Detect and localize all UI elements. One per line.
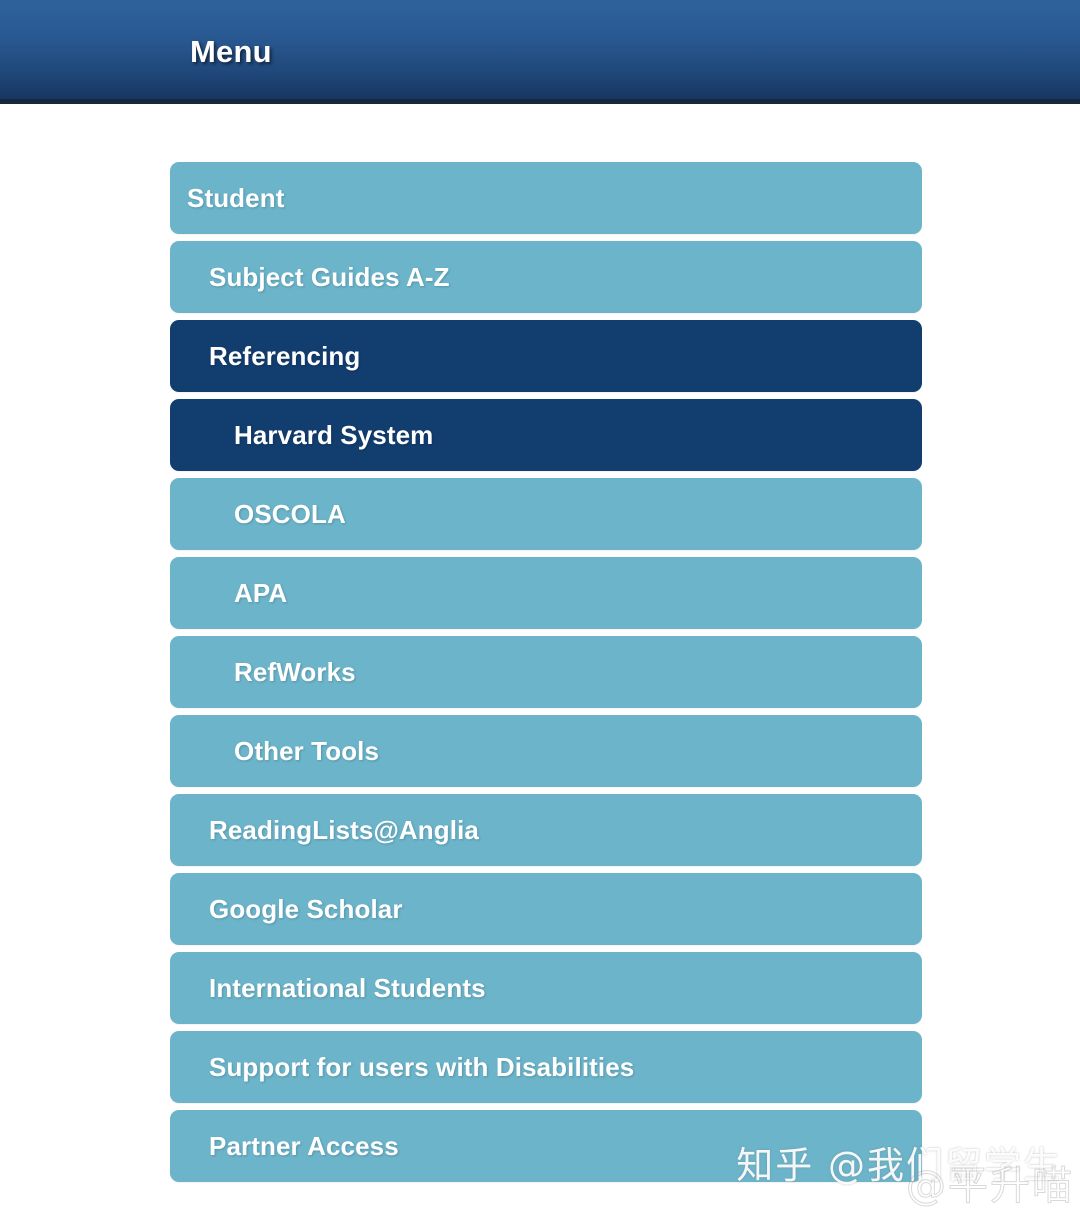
menu-item-label: Harvard System <box>170 422 433 448</box>
menu-item[interactable]: Google Scholar <box>170 873 922 945</box>
menu-item-label: Google Scholar <box>170 896 403 922</box>
menu-item-label: APA <box>170 580 287 606</box>
menu-item[interactable]: Partner Access <box>170 1110 922 1182</box>
menu-item-label: Student <box>170 185 284 211</box>
menu-item[interactable]: Subject Guides A-Z <box>170 241 922 313</box>
menu-item[interactable]: Referencing <box>170 320 922 392</box>
menu-item-label: Referencing <box>170 343 360 369</box>
menu-item-label: International Students <box>170 975 486 1001</box>
menu-item-label: OSCOLA <box>170 501 346 527</box>
menu-item[interactable]: OSCOLA <box>170 478 922 550</box>
menu-item[interactable]: International Students <box>170 952 922 1024</box>
menu-item[interactable]: Harvard System <box>170 399 922 471</box>
menu-item-label: Other Tools <box>170 738 379 764</box>
navigation-menu: StudentSubject Guides A-ZReferencingHarv… <box>170 162 922 1189</box>
menu-item-label: RefWorks <box>170 659 356 685</box>
page-title: Menu <box>190 36 272 67</box>
secondary-watermark: @平升喵 <box>906 1153 1074 1211</box>
menu-item[interactable]: Student <box>170 162 922 234</box>
menu-item[interactable]: Other Tools <box>170 715 922 787</box>
menu-item[interactable]: ReadingLists@Anglia <box>170 794 922 866</box>
menu-item-label: Subject Guides A-Z <box>170 264 450 290</box>
menu-item-label: ReadingLists@Anglia <box>170 817 479 843</box>
header-bar: Menu <box>0 0 1080 104</box>
menu-item-label: Support for users with Disabilities <box>170 1054 634 1080</box>
menu-item[interactable]: APA <box>170 557 922 629</box>
menu-item[interactable]: Support for users with Disabilities <box>170 1031 922 1103</box>
menu-item-label: Partner Access <box>170 1133 399 1159</box>
menu-item[interactable]: RefWorks <box>170 636 922 708</box>
page-root: Menu StudentSubject Guides A-ZReferencin… <box>0 0 1080 1217</box>
